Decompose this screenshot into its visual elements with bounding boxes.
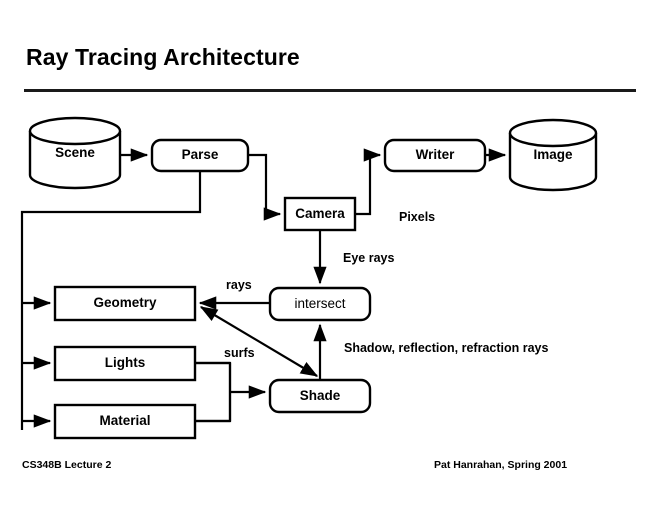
edge-parse-to-camera (248, 155, 280, 214)
edge-camera-to-writer (355, 155, 380, 214)
node-parse-shape (152, 140, 248, 171)
edge-label-rays: rays (226, 278, 252, 292)
slide-canvas: Ray Tracing Architecture (0, 0, 660, 510)
edge-label-surfs: surfs (224, 346, 255, 360)
node-lights-shape (55, 347, 195, 380)
node-scene-shape (30, 118, 120, 188)
edge-label-eye-rays: Eye rays (343, 251, 394, 265)
ray-tracing-flowchart (0, 0, 660, 510)
edge-label-shadow-reflection: Shadow, reflection, refraction rays (344, 341, 548, 355)
footer-lecture-label: CS348B Lecture 2 (22, 459, 111, 471)
node-geometry-shape (55, 287, 195, 320)
node-camera-shape (285, 198, 355, 230)
edge-label-pixels: Pixels (399, 210, 435, 224)
node-image-shape (510, 120, 596, 190)
node-writer-shape (385, 140, 485, 171)
node-intersect-shape (270, 288, 370, 320)
node-shade-shape (270, 380, 370, 412)
footer-author-label: Pat Hanrahan, Spring 2001 (434, 459, 567, 471)
node-material-shape (55, 405, 195, 438)
